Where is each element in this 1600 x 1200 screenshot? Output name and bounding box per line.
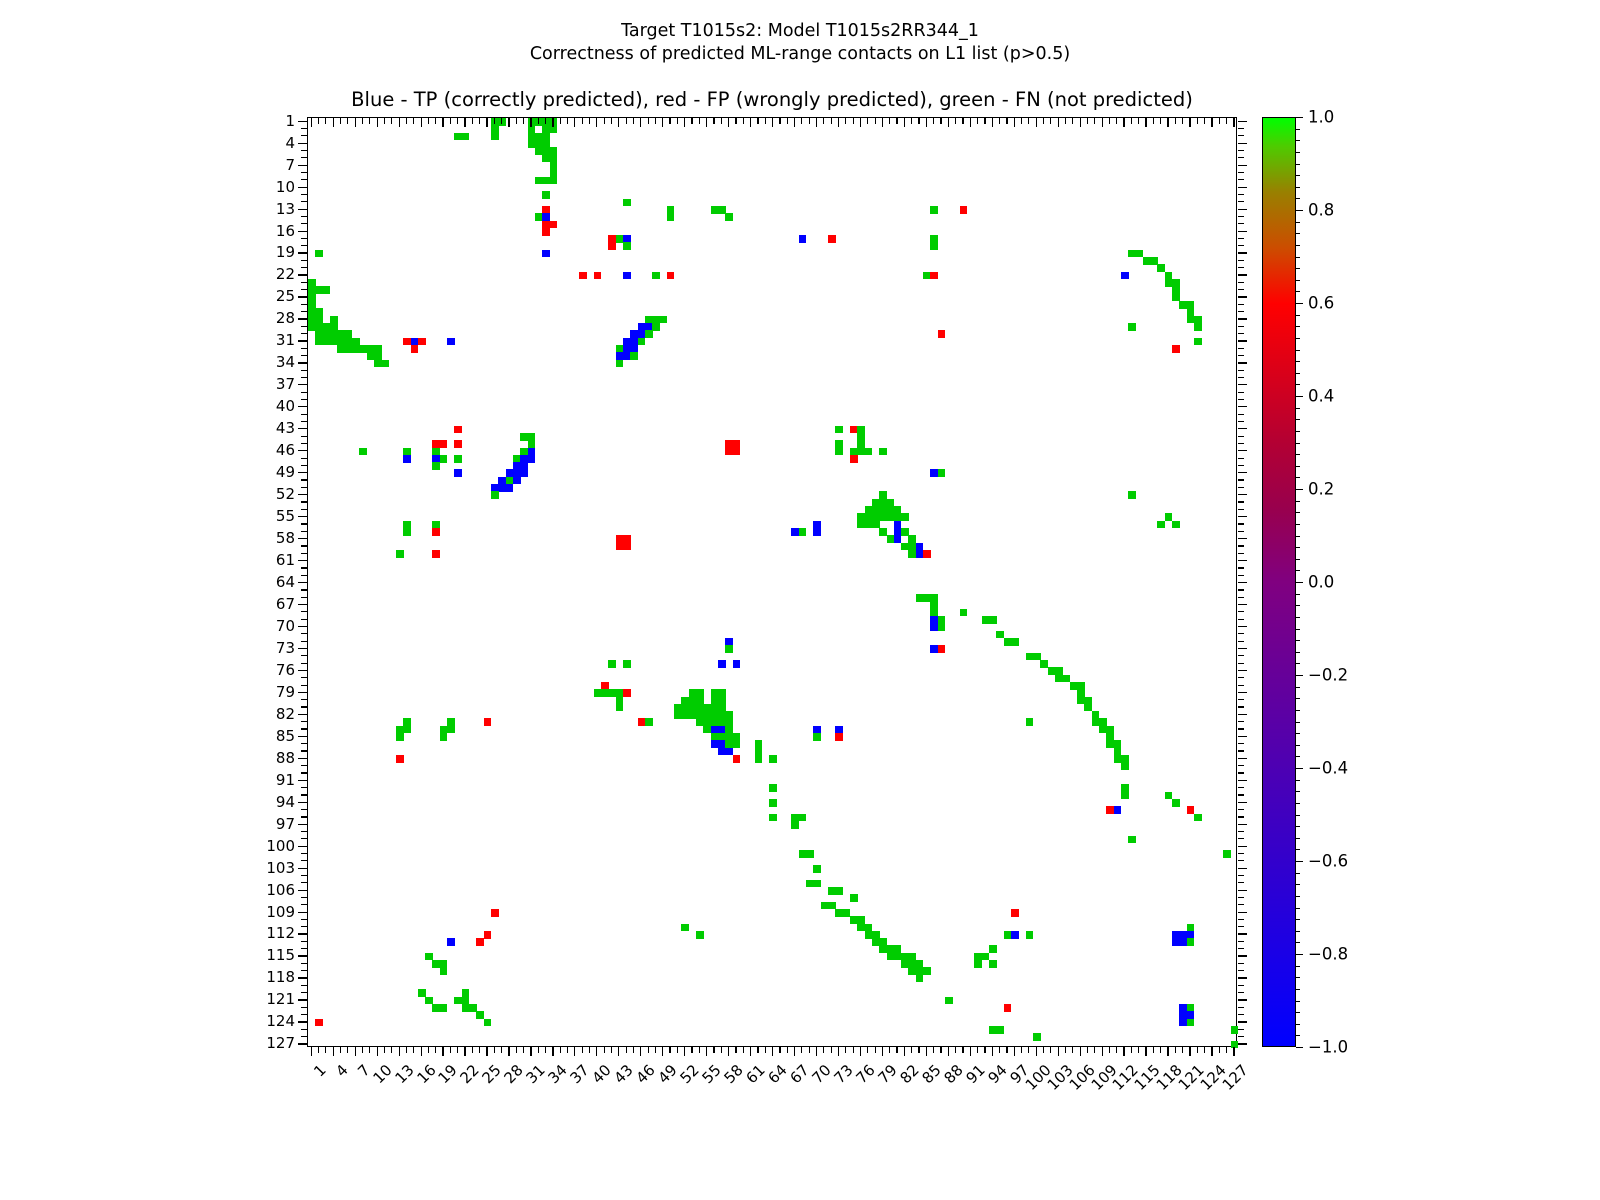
y-tick-right bbox=[1238, 428, 1247, 429]
y-tick-right bbox=[1238, 311, 1244, 312]
y-tick bbox=[301, 619, 307, 620]
x-tick bbox=[743, 1047, 744, 1053]
x-tick bbox=[648, 1047, 649, 1053]
x-tick bbox=[421, 1047, 422, 1056]
contact-cell-fn bbox=[542, 191, 550, 199]
x-tick bbox=[984, 1047, 985, 1053]
y-tick bbox=[298, 384, 307, 385]
colorbar-tick bbox=[1296, 117, 1303, 118]
colorbar-minor-tick bbox=[1296, 1012, 1300, 1013]
x-tick-top bbox=[1087, 118, 1088, 124]
x-tick-top bbox=[962, 118, 963, 124]
y-tick bbox=[301, 941, 307, 942]
y-tick bbox=[298, 538, 307, 539]
y-tick bbox=[298, 714, 307, 715]
x-tick-top bbox=[611, 118, 612, 124]
contact-cell-fn bbox=[681, 924, 689, 932]
x-tick-top bbox=[1145, 118, 1146, 127]
x-tick bbox=[626, 1047, 627, 1053]
y-tick-right bbox=[1238, 772, 1244, 773]
contact-cell-fp bbox=[579, 272, 587, 280]
y-tick bbox=[301, 641, 307, 642]
colorbar-minor-tick bbox=[1296, 129, 1300, 130]
x-tick-top bbox=[765, 118, 766, 124]
y-tick bbox=[301, 172, 307, 173]
contact-cell-fn bbox=[1157, 521, 1165, 529]
y-tick bbox=[301, 399, 307, 400]
y-tick-label: 70 bbox=[255, 617, 295, 635]
y-tick-right bbox=[1238, 743, 1244, 744]
colorbar-minor-tick bbox=[1296, 942, 1300, 943]
y-tick-label: 127 bbox=[255, 1034, 295, 1052]
y-tick bbox=[301, 545, 307, 546]
y-tick-right bbox=[1238, 692, 1247, 693]
colorbar-minor-tick bbox=[1296, 512, 1300, 513]
x-tick-top bbox=[699, 118, 700, 124]
x-tick-top bbox=[618, 118, 619, 127]
colorbar-minor-tick bbox=[1296, 524, 1300, 525]
y-tick bbox=[301, 223, 307, 224]
y-tick-right bbox=[1238, 245, 1244, 246]
y-tick bbox=[301, 436, 307, 437]
x-tick bbox=[384, 1047, 385, 1053]
colorbar-tick bbox=[1296, 489, 1303, 490]
y-tick bbox=[301, 304, 307, 305]
y-tick bbox=[298, 692, 307, 693]
colorbar-minor-tick bbox=[1296, 431, 1300, 432]
y-tick bbox=[301, 509, 307, 510]
colorbar-minor-tick bbox=[1296, 605, 1300, 606]
y-tick-right bbox=[1238, 1007, 1244, 1008]
x-tick bbox=[325, 1047, 326, 1053]
contact-cell-fn bbox=[989, 945, 997, 953]
y-tick bbox=[301, 355, 307, 356]
y-tick-right bbox=[1238, 919, 1244, 920]
y-tick bbox=[301, 553, 307, 554]
y-tick bbox=[301, 260, 307, 261]
y-tick bbox=[301, 655, 307, 656]
x-tick bbox=[1028, 1047, 1029, 1053]
x-tick-top bbox=[823, 118, 824, 124]
y-tick bbox=[301, 311, 307, 312]
x-tick bbox=[604, 1047, 605, 1053]
y-tick-label: 28 bbox=[255, 309, 295, 327]
y-tick-right bbox=[1238, 414, 1244, 415]
contact-cell-fn bbox=[1128, 491, 1136, 499]
y-tick-right bbox=[1238, 216, 1244, 217]
x-tick-top bbox=[347, 118, 348, 124]
y-tick-right bbox=[1238, 816, 1244, 817]
y-tick-label: 85 bbox=[255, 727, 295, 745]
y-tick bbox=[301, 201, 307, 202]
colorbar-minor-tick bbox=[1296, 687, 1300, 688]
y-tick bbox=[301, 238, 307, 239]
y-tick-right bbox=[1238, 523, 1244, 524]
y-tick-label: 10 bbox=[255, 178, 295, 196]
y-tick-right bbox=[1238, 274, 1247, 275]
y-tick bbox=[301, 479, 307, 480]
y-tick-right bbox=[1238, 450, 1247, 451]
y-tick-label: 79 bbox=[255, 683, 295, 701]
x-tick bbox=[948, 1047, 949, 1056]
x-tick bbox=[596, 1047, 597, 1056]
contact-cell-tp bbox=[1011, 931, 1019, 939]
y-tick bbox=[301, 128, 307, 129]
contact-cell-fp bbox=[938, 645, 946, 653]
contact-cell-fn bbox=[1172, 521, 1180, 529]
y-tick bbox=[301, 487, 307, 488]
x-tick-top bbox=[1021, 118, 1022, 124]
colorbar-tick-label: −0.4 bbox=[1308, 759, 1348, 778]
y-tick bbox=[301, 465, 307, 466]
y-tick bbox=[301, 750, 307, 751]
y-tick bbox=[298, 955, 307, 956]
contact-cell-fp bbox=[733, 448, 741, 456]
y-tick bbox=[301, 589, 307, 590]
y-tick-label: 121 bbox=[255, 990, 295, 1008]
contact-cell-fp bbox=[923, 550, 931, 558]
y-tick bbox=[301, 809, 307, 810]
contact-cell-fn bbox=[484, 1019, 492, 1027]
contact-cell-fn bbox=[930, 206, 938, 214]
colorbar-minor-tick bbox=[1296, 361, 1300, 362]
x-tick-top bbox=[853, 118, 854, 124]
y-tick-right bbox=[1238, 187, 1247, 188]
y-tick-right bbox=[1238, 897, 1244, 898]
x-tick-top bbox=[999, 118, 1000, 124]
contact-cell-fn bbox=[440, 967, 448, 975]
contact-cell-fn bbox=[403, 528, 411, 536]
x-tick-top bbox=[1058, 118, 1059, 127]
x-tick-top bbox=[604, 118, 605, 124]
x-tick-top bbox=[574, 118, 575, 127]
x-tick-top bbox=[948, 118, 949, 127]
y-tick-right bbox=[1238, 121, 1247, 122]
y-tick-label: 25 bbox=[255, 287, 295, 305]
colorbar-minor-tick bbox=[1296, 198, 1300, 199]
colorbar-tick-label: −0.8 bbox=[1308, 945, 1348, 964]
y-tick bbox=[298, 648, 307, 649]
x-tick-top bbox=[472, 118, 473, 124]
y-tick-right bbox=[1238, 209, 1247, 210]
y-tick-right bbox=[1238, 992, 1244, 993]
x-tick-top bbox=[1043, 118, 1044, 124]
x-tick bbox=[1138, 1047, 1139, 1053]
y-tick bbox=[301, 1014, 307, 1015]
contact-cell-fn bbox=[381, 360, 389, 368]
x-tick bbox=[391, 1047, 392, 1053]
y-tick bbox=[301, 1036, 307, 1037]
y-tick-label: 82 bbox=[255, 705, 295, 723]
contact-cell-tp bbox=[1121, 272, 1129, 280]
x-tick-top bbox=[1109, 118, 1110, 124]
y-tick-right bbox=[1238, 406, 1247, 407]
y-tick-right bbox=[1238, 304, 1244, 305]
y-tick-right bbox=[1238, 252, 1247, 253]
x-tick bbox=[1123, 1047, 1124, 1056]
x-tick bbox=[772, 1047, 773, 1056]
contact-cell-fn bbox=[623, 199, 631, 207]
x-tick-top bbox=[992, 118, 993, 127]
contact-cell-fn bbox=[652, 323, 660, 331]
x-tick bbox=[1036, 1047, 1037, 1056]
y-tick-right bbox=[1238, 553, 1244, 554]
x-tick-top bbox=[582, 118, 583, 124]
contact-cell-fn bbox=[725, 213, 733, 221]
y-tick-label: 4 bbox=[255, 134, 295, 152]
y-tick bbox=[298, 362, 307, 363]
y-tick-right bbox=[1238, 699, 1244, 700]
colorbar-minor-tick bbox=[1296, 443, 1300, 444]
x-tick bbox=[1233, 1047, 1234, 1056]
contact-cell-tp bbox=[623, 272, 631, 280]
contact-cell-fn bbox=[769, 814, 777, 822]
x-tick bbox=[311, 1047, 312, 1056]
contact-cell-fp bbox=[484, 718, 492, 726]
x-tick bbox=[765, 1047, 766, 1053]
colorbar-minor-tick bbox=[1296, 222, 1300, 223]
contact-cell-fp bbox=[594, 272, 602, 280]
y-tick-label: 52 bbox=[255, 485, 295, 503]
contact-cell-tp bbox=[447, 938, 455, 946]
y-tick bbox=[301, 414, 307, 415]
contact-cell-fn bbox=[791, 821, 799, 829]
colorbar-minor-tick bbox=[1296, 1001, 1300, 1002]
y-tick-right bbox=[1238, 201, 1244, 202]
colorbar-minor-tick bbox=[1296, 187, 1300, 188]
x-tick-top bbox=[743, 118, 744, 124]
y-tick-label: 58 bbox=[255, 529, 295, 547]
y-tick-right bbox=[1238, 589, 1244, 590]
y-tick bbox=[298, 121, 307, 122]
x-tick bbox=[713, 1047, 714, 1053]
y-tick-right bbox=[1238, 1029, 1244, 1030]
x-tick bbox=[823, 1047, 824, 1053]
y-tick-right bbox=[1238, 831, 1244, 832]
y-tick-label: 73 bbox=[255, 639, 295, 657]
y-tick-right bbox=[1238, 157, 1244, 158]
x-tick bbox=[735, 1047, 736, 1053]
colorbar-minor-tick bbox=[1296, 350, 1300, 351]
y-tick-right bbox=[1238, 999, 1247, 1000]
contact-cell-fn bbox=[550, 177, 558, 185]
x-tick-top bbox=[355, 118, 356, 127]
contact-cell-fn bbox=[623, 660, 631, 668]
x-tick-top bbox=[516, 118, 517, 124]
x-tick-top bbox=[721, 118, 722, 124]
colorbar-minor-tick bbox=[1296, 954, 1300, 955]
x-tick bbox=[940, 1047, 941, 1053]
x-tick bbox=[464, 1047, 465, 1056]
x-tick bbox=[889, 1047, 890, 1053]
y-tick-right bbox=[1238, 135, 1244, 136]
contact-cell-fn bbox=[930, 242, 938, 250]
contact-cell-fn bbox=[769, 784, 777, 792]
x-tick bbox=[538, 1047, 539, 1053]
y-tick-right bbox=[1238, 384, 1247, 385]
x-tick-top bbox=[508, 118, 509, 127]
y-tick-label: 112 bbox=[255, 924, 295, 942]
x-tick bbox=[875, 1047, 876, 1053]
x-tick-top bbox=[391, 118, 392, 124]
x-tick-top bbox=[1014, 118, 1015, 127]
y-tick bbox=[298, 1043, 307, 1044]
x-tick bbox=[918, 1047, 919, 1053]
y-tick bbox=[298, 187, 307, 188]
x-tick-top bbox=[1189, 118, 1190, 127]
contact-cell-fp bbox=[432, 550, 440, 558]
contact-cell-fn bbox=[403, 726, 411, 734]
colorbar-minor-tick bbox=[1296, 931, 1300, 932]
y-tick bbox=[301, 831, 307, 832]
contact-cell-tp bbox=[506, 484, 514, 492]
x-tick-top bbox=[325, 118, 326, 124]
x-tick bbox=[1211, 1047, 1212, 1056]
y-tick bbox=[298, 472, 307, 473]
contact-cell-fp bbox=[542, 228, 550, 236]
y-tick-right bbox=[1238, 479, 1244, 480]
contact-cell-fn bbox=[667, 213, 675, 221]
y-tick-label: 40 bbox=[255, 397, 295, 415]
colorbar-minor-tick bbox=[1296, 175, 1300, 176]
x-tick bbox=[779, 1047, 780, 1053]
y-tick-right bbox=[1238, 677, 1244, 678]
x-tick-top bbox=[896, 118, 897, 124]
y-tick-label: 91 bbox=[255, 771, 295, 789]
x-tick bbox=[955, 1047, 956, 1053]
x-tick bbox=[706, 1047, 707, 1056]
x-tick bbox=[838, 1047, 839, 1056]
x-tick bbox=[999, 1047, 1000, 1053]
x-tick bbox=[1131, 1047, 1132, 1053]
y-tick-right bbox=[1238, 223, 1244, 224]
y-tick bbox=[301, 794, 307, 795]
y-tick bbox=[298, 274, 307, 275]
x-tick bbox=[911, 1047, 912, 1053]
y-tick-right bbox=[1238, 963, 1244, 964]
x-tick-top bbox=[523, 118, 524, 124]
y-tick bbox=[301, 194, 307, 195]
x-tick-top bbox=[955, 118, 956, 124]
colorbar-minor-tick bbox=[1296, 652, 1300, 653]
colorbar-minor-tick bbox=[1296, 977, 1300, 978]
x-tick-top bbox=[501, 118, 502, 124]
contact-cell-fn bbox=[440, 733, 448, 741]
contact-cell-tp bbox=[513, 477, 521, 485]
contact-cell-fn bbox=[645, 718, 653, 726]
x-tick-top bbox=[1102, 118, 1103, 127]
y-tick-right bbox=[1238, 143, 1247, 144]
y-tick-right bbox=[1238, 933, 1247, 934]
colorbar-minor-tick bbox=[1296, 384, 1300, 385]
contact-cell-fp bbox=[315, 1019, 323, 1027]
x-tick bbox=[1116, 1047, 1117, 1053]
contact-cell-fn bbox=[989, 616, 997, 624]
y-tick bbox=[301, 370, 307, 371]
y-tick-right bbox=[1238, 545, 1244, 546]
x-tick bbox=[1226, 1047, 1227, 1053]
y-tick-right bbox=[1238, 436, 1244, 437]
x-tick bbox=[450, 1047, 451, 1053]
x-tick-top bbox=[669, 118, 670, 124]
x-tick-top bbox=[1153, 118, 1154, 124]
x-tick bbox=[801, 1047, 802, 1053]
y-tick bbox=[301, 772, 307, 773]
colorbar-tick-label: 0.2 bbox=[1308, 480, 1334, 499]
y-tick-right bbox=[1238, 1043, 1247, 1044]
contact-cell-fn bbox=[923, 967, 931, 975]
y-tick bbox=[301, 728, 307, 729]
x-tick-top bbox=[918, 118, 919, 124]
colorbar-minor-tick bbox=[1296, 722, 1300, 723]
colorbar-tick-label: −1.0 bbox=[1308, 1038, 1348, 1057]
colorbar-minor-tick bbox=[1296, 466, 1300, 467]
x-tick bbox=[362, 1047, 363, 1053]
x-tick bbox=[567, 1047, 568, 1053]
y-tick-right bbox=[1238, 172, 1244, 173]
y-tick-label: 97 bbox=[255, 815, 295, 833]
y-tick-right bbox=[1238, 794, 1244, 795]
x-tick bbox=[1080, 1047, 1081, 1056]
contact-cell-fn bbox=[1223, 850, 1231, 858]
y-tick bbox=[301, 421, 307, 422]
y-tick-right bbox=[1238, 370, 1244, 371]
x-tick bbox=[369, 1047, 370, 1053]
y-tick bbox=[301, 816, 307, 817]
colorbar-minor-tick bbox=[1296, 849, 1300, 850]
y-tick bbox=[298, 933, 307, 934]
colorbar-minor-tick bbox=[1296, 756, 1300, 757]
colorbar-minor-tick bbox=[1296, 733, 1300, 734]
y-tick-label: 67 bbox=[255, 595, 295, 613]
x-tick-top bbox=[428, 118, 429, 124]
x-tick-top bbox=[421, 118, 422, 127]
y-tick-right bbox=[1238, 750, 1244, 751]
colorbar-minor-tick bbox=[1296, 675, 1300, 676]
colorbar-tick-label: 0.8 bbox=[1308, 201, 1334, 220]
colorbar-minor-tick bbox=[1296, 559, 1300, 560]
x-tick bbox=[494, 1047, 495, 1053]
colorbar-minor-tick bbox=[1296, 861, 1300, 862]
x-tick bbox=[992, 1047, 993, 1056]
y-tick-right bbox=[1238, 355, 1244, 356]
y-tick bbox=[301, 897, 307, 898]
x-tick-top bbox=[867, 118, 868, 124]
x-tick-top bbox=[794, 118, 795, 127]
colorbar-minor-tick bbox=[1296, 768, 1300, 769]
y-tick-right bbox=[1238, 575, 1244, 576]
y-tick-right bbox=[1238, 955, 1247, 956]
x-tick-top bbox=[1233, 118, 1234, 127]
x-tick-top bbox=[970, 118, 971, 127]
x-tick-top bbox=[750, 118, 751, 127]
x-tick bbox=[560, 1047, 561, 1053]
y-tick bbox=[301, 289, 307, 290]
contact-cell-fn bbox=[806, 850, 814, 858]
contact-cell-fp bbox=[411, 345, 419, 353]
contact-cell-fn bbox=[813, 880, 821, 888]
contact-cell-fn bbox=[1172, 799, 1180, 807]
contact-cell-fn bbox=[901, 513, 909, 521]
y-tick bbox=[298, 428, 307, 429]
y-tick-right bbox=[1238, 663, 1244, 664]
contact-cell-fn bbox=[974, 960, 982, 968]
contact-cell-fn bbox=[315, 250, 323, 258]
colorbar-tick-label: 1.0 bbox=[1308, 108, 1334, 127]
contact-cell-fn bbox=[1121, 762, 1129, 770]
contact-cell-fn bbox=[616, 704, 624, 712]
x-tick bbox=[845, 1047, 846, 1053]
